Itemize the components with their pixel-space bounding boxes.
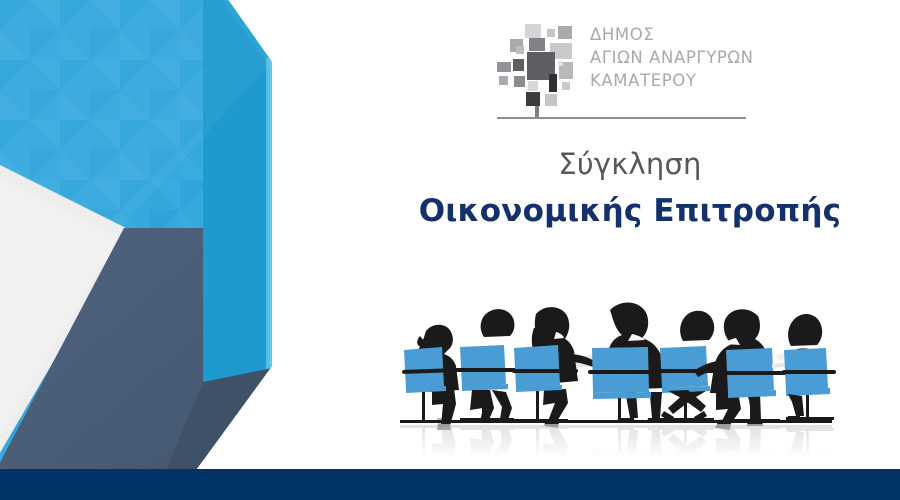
headline-block: Σύγκληση Οικονομικής Επιτροπής [380, 148, 880, 230]
municipality-logo: ΔΗΜΟΣ ΑΓΙΩΝ ΑΝΑΡΓΥΡΩΝ ΚΑΜΑΤΕΡΟΥ [492, 18, 752, 130]
logo-line-3: ΚΑΜΑΤΕΡΟΥ [590, 70, 754, 93]
reflection-fade [396, 424, 836, 456]
logo-ground-rule [497, 117, 746, 119]
geometric-decoration [0, 0, 300, 470]
meeting-scene [400, 303, 836, 430]
geo-edge-highlight-2 [270, 58, 273, 370]
logo-line-1: ΔΗΜΟΣ [590, 24, 754, 47]
logo-wordmark: ΔΗΜΟΣ ΑΓΙΩΝ ΑΝΑΡΓΥΡΩΝ ΚΑΜΑΤΕΡΟΥ [590, 18, 754, 92]
mosaic-tree-icon [492, 18, 584, 118]
logo-line-2: ΑΓΙΩΝ ΑΝΑΡΓΥΡΩΝ [590, 47, 754, 70]
kicker-text: Σύγκληση [380, 148, 880, 181]
page-title: Οικονομικής Επιτροπής [380, 194, 880, 230]
slide-canvas: ΔΗΜΟΣ ΑΓΙΩΝ ΑΝΑΡΓΥΡΩΝ ΚΑΜΑΤΕΡΟΥ Σύγκληση… [0, 0, 900, 500]
meeting-illustration [396, 298, 836, 456]
geo-body [0, 0, 280, 470]
tree-canopy-squares [497, 24, 573, 106]
footer-bar [0, 469, 900, 500]
